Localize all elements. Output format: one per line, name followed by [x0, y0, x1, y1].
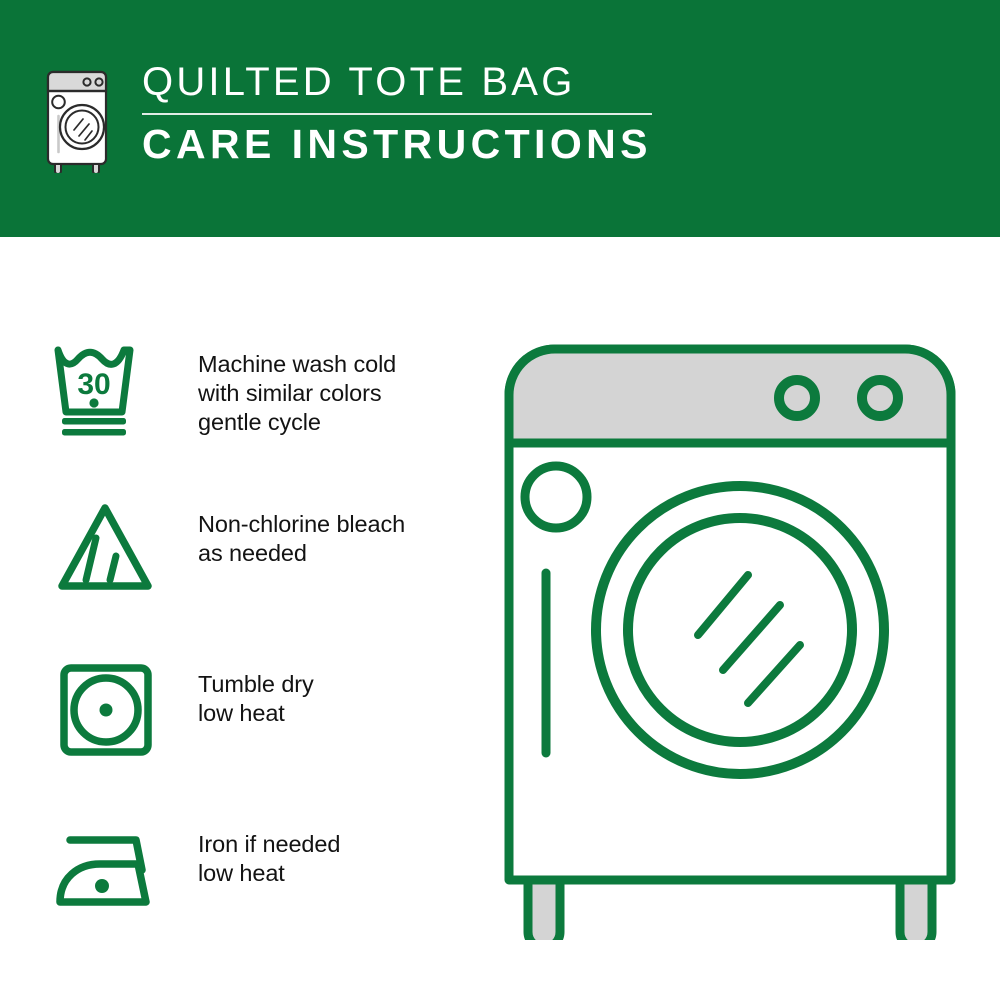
- header-band: QUILTED TOTE BAG CARE INSTRUCTIONS: [0, 0, 1000, 237]
- instruction-text-iron: Iron if needed low heat: [164, 810, 468, 888]
- wash-temperature-label: 30: [77, 368, 110, 401]
- instruction-line: Tumble dry: [198, 670, 468, 699]
- instruction-line: low heat: [198, 859, 468, 888]
- title-divider: [142, 113, 652, 115]
- page-subtitle: CARE INSTRUCTIONS: [142, 124, 652, 165]
- machine-wash-tub-icon: 30: [48, 330, 164, 442]
- tumble-dry-low-icon: [48, 650, 164, 762]
- instruction-line: Machine wash cold: [198, 350, 468, 379]
- page-title: QUILTED TOTE BAG: [142, 62, 652, 113]
- leg-left: [528, 880, 560, 940]
- care-instructions-page: QUILTED TOTE BAG CARE INSTRUCTIONS 30: [0, 0, 1000, 1000]
- instructions-list: 30 Machine wash cold with similar colors…: [48, 330, 468, 970]
- instruction-text-bleach: Non-chlorine bleach as needed: [164, 490, 468, 568]
- instruction-row-machine-wash: 30 Machine wash cold with similar colors…: [48, 330, 468, 490]
- header-text-block: QUILTED TOTE BAG CARE INSTRUCTIONS: [142, 62, 652, 165]
- instruction-line: low heat: [198, 699, 468, 728]
- instruction-line: Iron if needed: [198, 830, 468, 859]
- leg-right: [900, 880, 932, 940]
- instruction-text-tumble-dry: Tumble dry low heat: [164, 650, 468, 728]
- instruction-row-bleach: Non-chlorine bleach as needed: [48, 490, 468, 650]
- instruction-line: as needed: [198, 539, 468, 568]
- washing-machine-icon: [42, 68, 120, 173]
- instruction-line: with similar colors: [198, 379, 468, 408]
- front-load-washing-machine-illustration: [490, 330, 970, 940]
- iron-low-heat-icon: [48, 810, 164, 922]
- instruction-row-tumble-dry: Tumble dry low heat: [48, 650, 468, 810]
- instruction-row-iron: Iron if needed low heat: [48, 810, 468, 970]
- instruction-line: Non-chlorine bleach: [198, 510, 468, 539]
- instruction-text-machine-wash: Machine wash cold with similar colors ge…: [164, 330, 468, 437]
- instruction-line: gentle cycle: [198, 408, 468, 437]
- non-chlorine-bleach-triangle-icon: [48, 490, 164, 602]
- header-content: QUILTED TOTE BAG CARE INSTRUCTIONS: [42, 62, 652, 173]
